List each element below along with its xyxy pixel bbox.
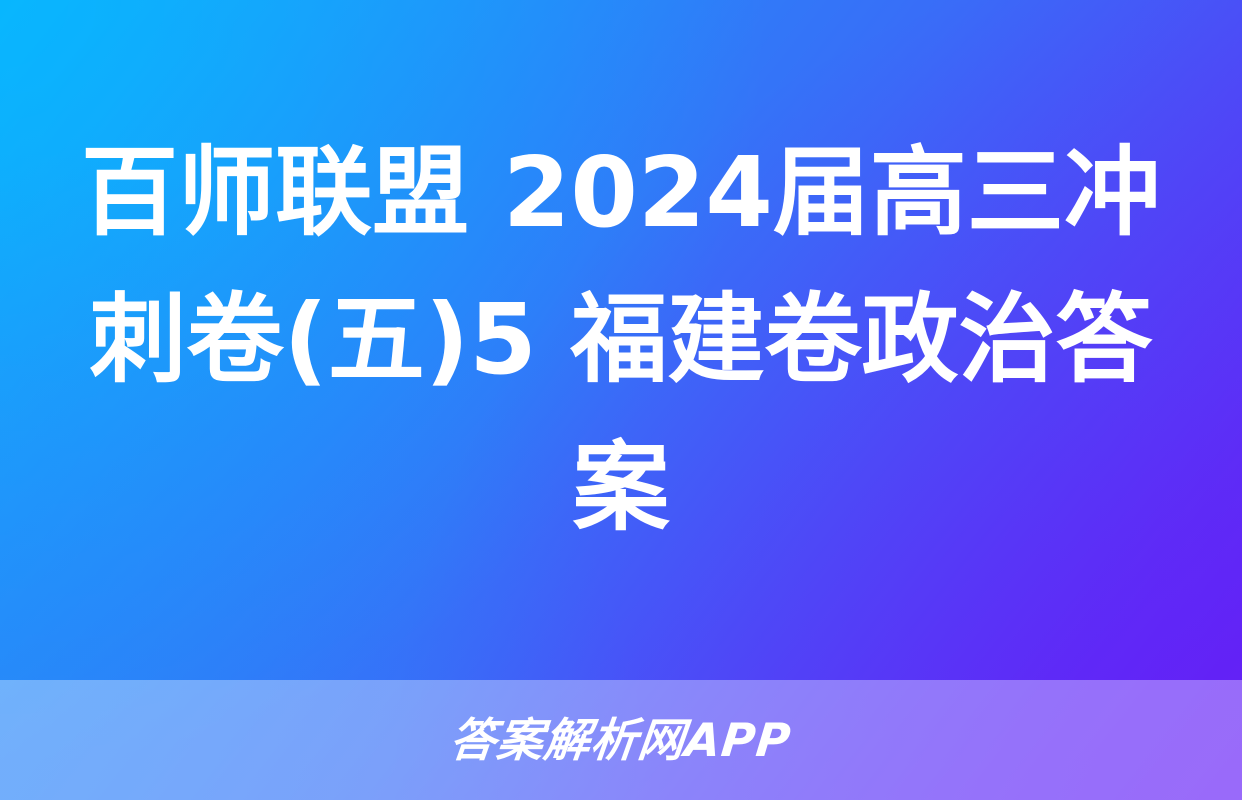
watermark-app-label: 答案解析网APP [448, 717, 794, 763]
page-title: 百师联盟 2024届高三冲刺卷(五)5 福建卷政治答案 [75, 119, 1167, 561]
answer-cover-card: 百师联盟 2024届高三冲刺卷(五)5 福建卷政治答案 答案解析网APP [0, 0, 1242, 800]
watermark-band: 答案解析网APP [0, 680, 1242, 800]
title-area: 百师联盟 2024届高三冲刺卷(五)5 福建卷政治答案 [0, 0, 1242, 680]
